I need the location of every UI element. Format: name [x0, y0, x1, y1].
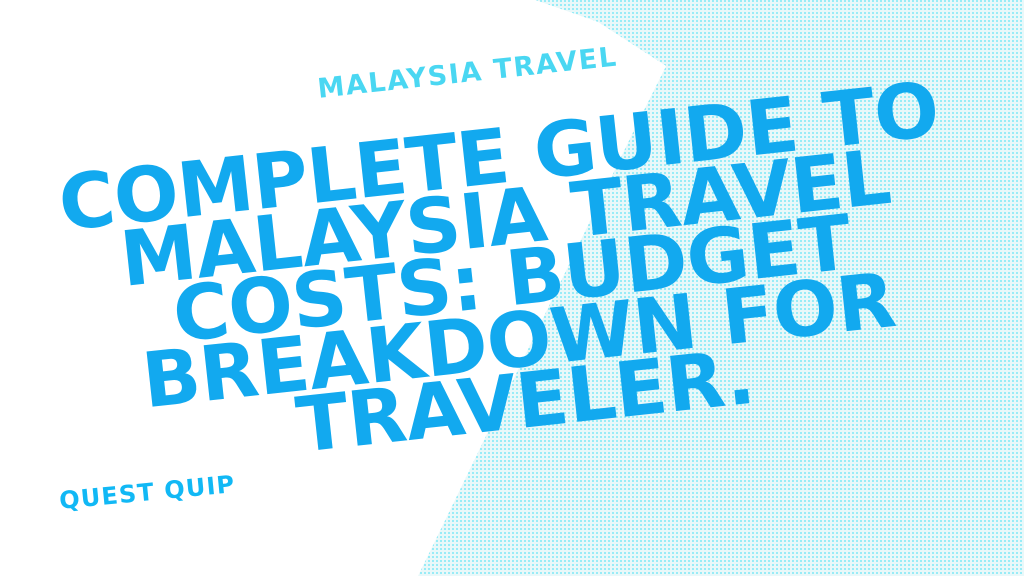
slide-canvas: MALAYSIA TRAVEL COMPLETE GUIDE TO MALAYS… — [0, 0, 1024, 576]
